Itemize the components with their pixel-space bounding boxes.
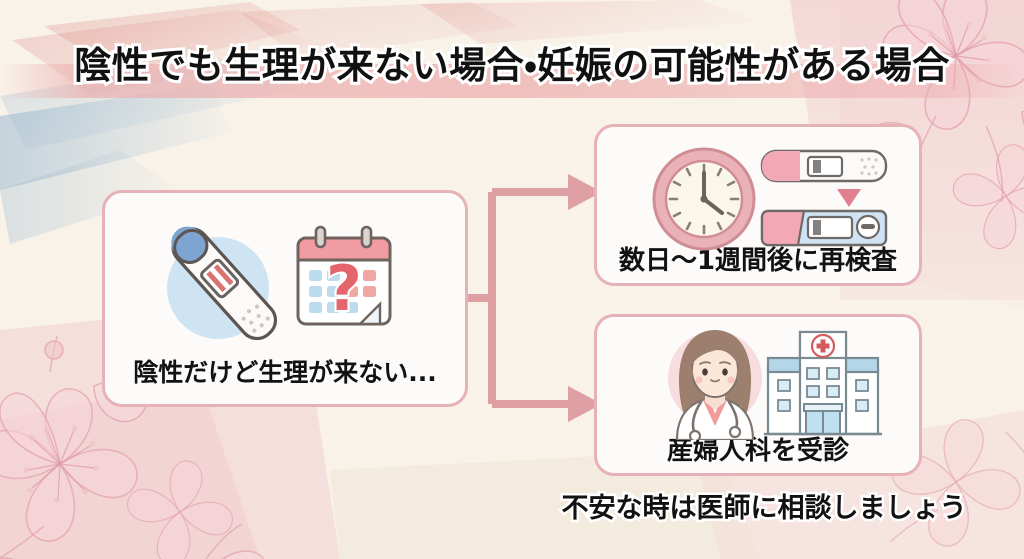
retest-sticks-icon (756, 137, 896, 255)
infographic-canvas: 陰性でも生理が来ない場合・妊娠の可能性がある場合 陰性だけど生理が来ない... (0, 0, 1024, 559)
footer-note: 不安な時は医師に相談しましょう (514, 486, 1014, 525)
source-card-label: 陰性だけど生理が来ない... (105, 353, 465, 389)
female-doctor-icon (655, 322, 775, 440)
wall-clock-icon (648, 143, 760, 255)
pregnancy-test-stick-icon (150, 208, 300, 358)
svg-text:?: ? (326, 252, 362, 325)
calendar-question-icon: ? (288, 222, 400, 334)
flow-connector-arrows (460, 140, 610, 440)
hospital-building-icon (762, 324, 884, 440)
arrow-down-icon (837, 189, 861, 207)
page-title: 陰性でも生理が来ない場合・妊娠の可能性がある場合 (0, 35, 1024, 89)
